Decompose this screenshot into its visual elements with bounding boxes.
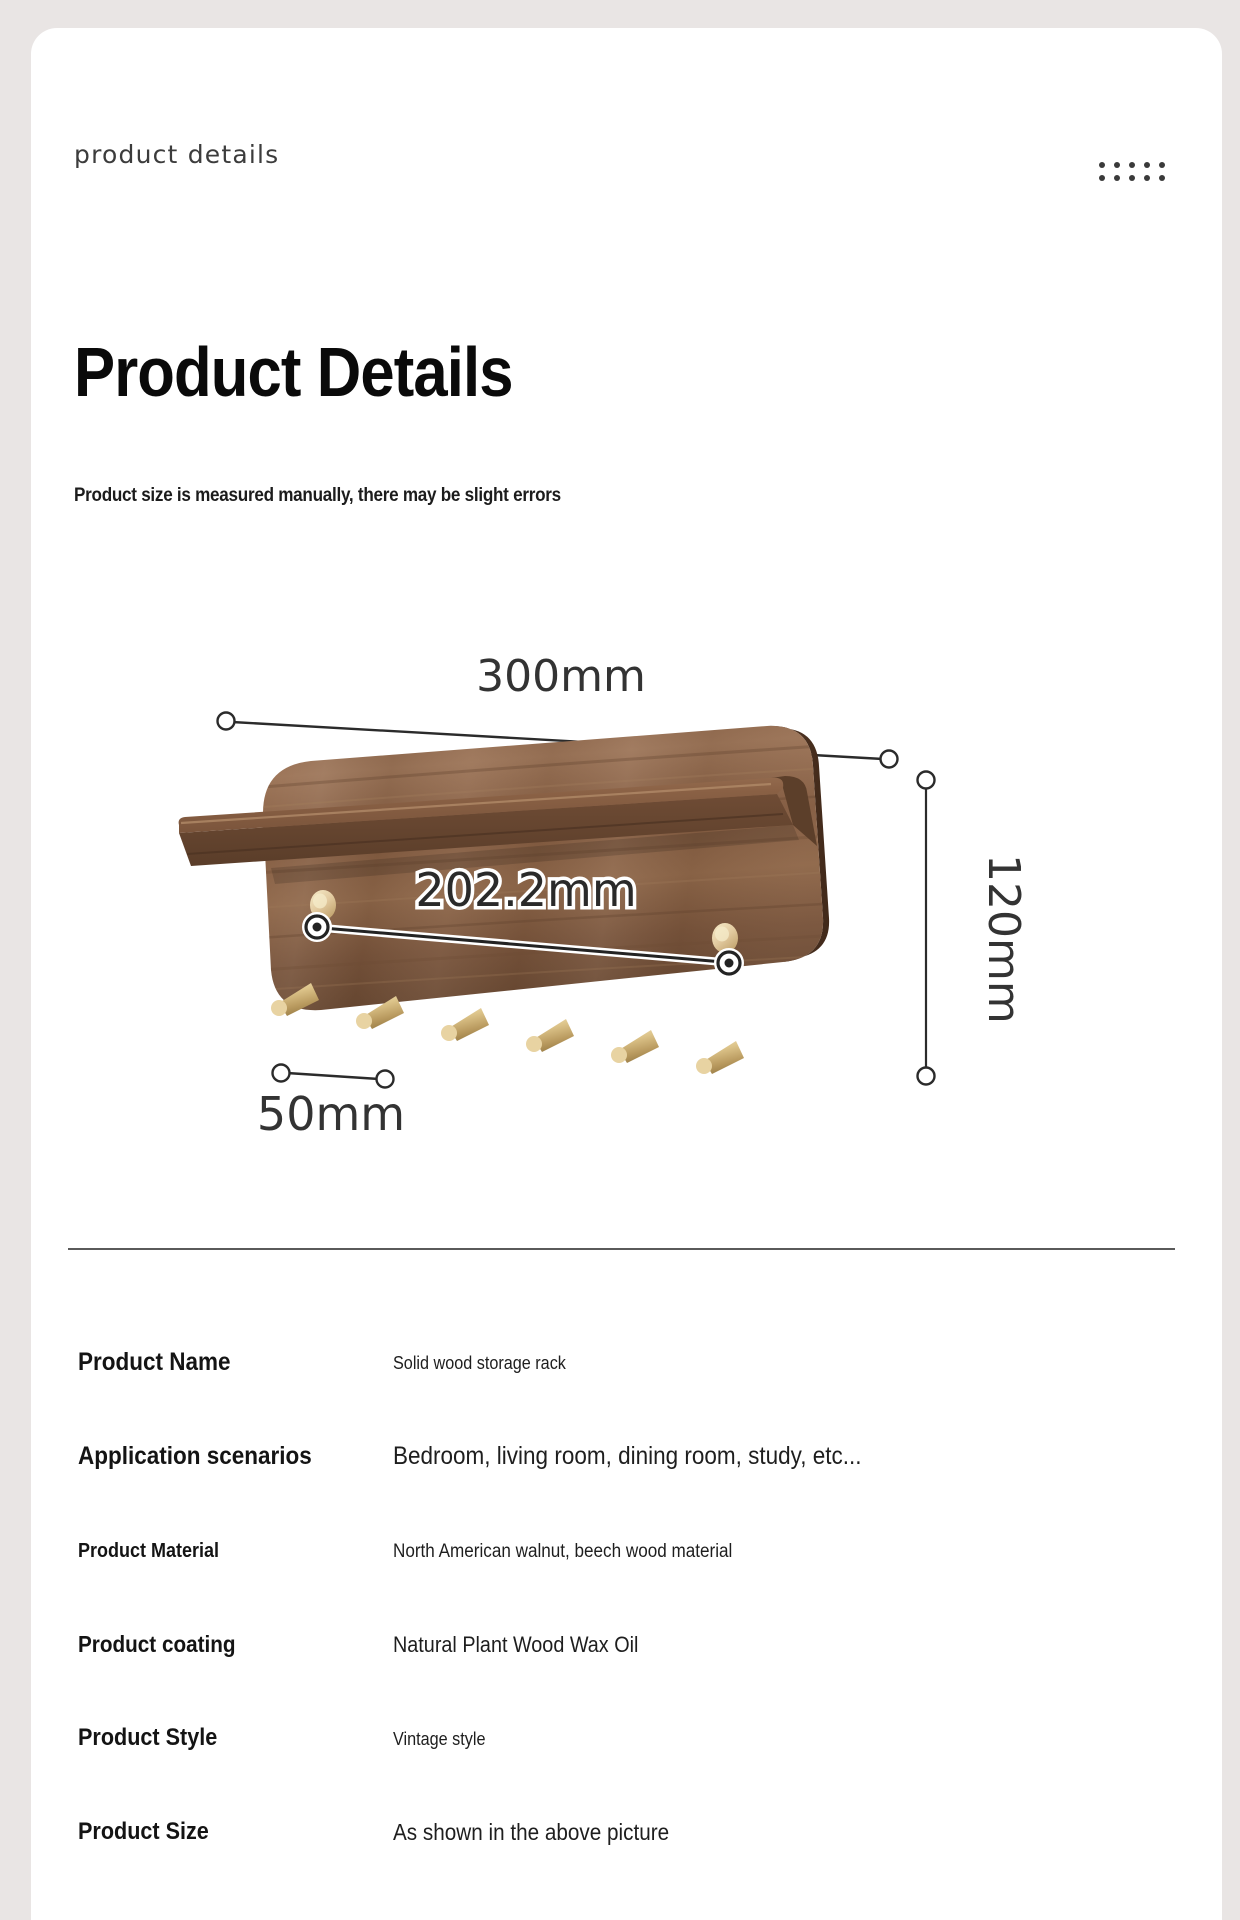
spec-label: Product Size	[78, 1818, 209, 1846]
menu-dot	[1159, 162, 1165, 168]
dimension-300mm-label: 300mm	[476, 651, 646, 702]
spec-value: As shown in the above picture	[393, 1819, 669, 1846]
table-row: Product Name Solid wood storage rack	[31, 1348, 1222, 1442]
menu-dot	[1099, 175, 1105, 181]
menu-dot	[1129, 175, 1135, 181]
content-card: product details Product Details Product …	[31, 28, 1222, 1920]
spec-label: Product Style	[78, 1724, 217, 1752]
page-root: product details Product Details Product …	[0, 0, 1240, 1920]
section-divider	[68, 1248, 1175, 1250]
spec-label: Product Name	[78, 1348, 231, 1377]
dots-grid-icon[interactable]	[1094, 158, 1170, 184]
brass-hook	[441, 1008, 489, 1041]
brass-hook	[696, 1041, 744, 1074]
table-row: Product Size As shown in the above pictu…	[31, 1818, 1222, 1912]
table-row: Product Style Vintage style	[31, 1724, 1222, 1818]
spec-label: Product coating	[78, 1631, 236, 1658]
spec-value: Natural Plant Wood Wax Oil	[393, 1632, 638, 1658]
spec-value: North American walnut, beech wood materi…	[393, 1541, 732, 1563]
spec-value: Solid wood storage rack	[393, 1353, 566, 1374]
measurement-disclaimer: Product size is measured manually, there…	[74, 485, 561, 507]
menu-dot	[1144, 162, 1150, 168]
top-bar: product details	[31, 28, 1222, 188]
menu-dot	[1129, 162, 1135, 168]
brass-hook	[611, 1030, 659, 1063]
table-row: Application scenarios Bedroom, living ro…	[31, 1442, 1222, 1536]
dimension-50mm-label: 50mm	[257, 1087, 405, 1138]
product-dimension-figure: 300mm 120mm	[171, 618, 1171, 1138]
brass-hook	[526, 1019, 574, 1052]
dimension-120mm: 120mm	[918, 772, 1030, 1085]
breadcrumb: product details	[74, 140, 279, 169]
dimension-50mm: 50mm	[257, 1065, 405, 1139]
spec-value: Vintage style	[393, 1729, 485, 1750]
dimension-202mm-label: 202.2mm	[415, 863, 636, 917]
menu-dot	[1159, 175, 1165, 181]
dimension-120mm-label: 120mm	[978, 854, 1029, 1024]
menu-dot	[1099, 162, 1105, 168]
page-title: Product Details	[74, 336, 513, 408]
menu-dot	[1144, 175, 1150, 181]
specs-table: Product Name Solid wood storage rack App…	[31, 1348, 1222, 1912]
spec-value: Bedroom, living room, dining room, study…	[393, 1442, 862, 1471]
table-row: Product Material North American walnut, …	[31, 1536, 1222, 1630]
spec-label: Application scenarios	[78, 1442, 312, 1471]
menu-dot	[1114, 175, 1120, 181]
table-row: Product coating Natural Plant Wood Wax O…	[31, 1630, 1222, 1724]
menu-dot	[1114, 162, 1120, 168]
spec-label: Product Material	[78, 1540, 219, 1563]
